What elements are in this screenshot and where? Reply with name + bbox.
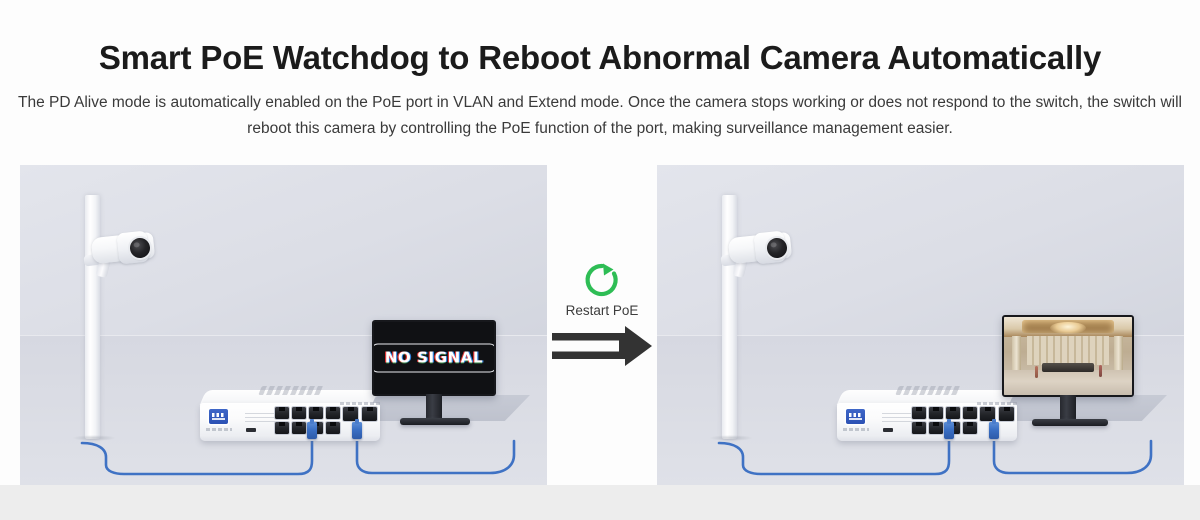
monitor-live-feed [1002,315,1142,430]
monitor-screen [1002,315,1134,397]
cable-plug-uplink1 [989,422,999,439]
poe-port-7 [963,422,977,434]
lobby-back-wall [1027,336,1109,366]
poe-port-8 [963,407,977,419]
monitor-neck [426,394,442,420]
chandelier-icon [1050,322,1086,334]
panel-after [657,165,1184,485]
poe-port-4 [929,407,943,419]
no-signal-text: NO SIGNAL [385,349,483,367]
poe-switch [837,390,1022,442]
switch-port-legend [882,410,912,422]
lobby-column-right [1114,336,1123,370]
port-row-top [912,407,977,419]
poe-port-2 [275,407,289,419]
poe-port-3 [292,422,306,434]
pole-shadow [72,435,116,441]
page-subtitle: The PD Alive mode is automatically enabl… [12,90,1188,142]
switch-model-text [206,428,232,431]
poe-port-4 [292,407,306,419]
lobby-column-left [1012,336,1021,370]
poe-port-1 [912,422,926,434]
cable-plug-uplink1 [352,422,362,439]
lobby-floor [1004,370,1132,395]
refresh-icon [582,260,622,300]
cctv-camera [78,227,170,289]
poe-port-8 [326,407,340,419]
switch-brand-emboss [895,386,961,395]
bottom-strip [0,485,1200,520]
pole-shadow [709,435,753,441]
monitor-base [1032,419,1108,426]
reception-desk [1042,363,1093,372]
panel-before: NO SIGNAL [20,165,547,485]
poe-port-7 [326,422,340,434]
lobby-person-2 [1099,365,1102,377]
lobby-person-1 [1035,366,1038,378]
switch-model-text [843,428,869,431]
poe-port-2 [912,407,926,419]
poe-switch [200,390,385,442]
poe-port-6 [946,407,960,419]
monitor-neck [1060,395,1076,421]
cable-plug-port1 [944,422,954,439]
switch-status-led [246,428,256,432]
switch-logo-badge [209,409,228,424]
transition-indicator: Restart PoE [547,165,657,485]
switch-port-legend [245,410,275,422]
monitor-screen: NO SIGNAL [372,320,496,396]
poe-port-1 [275,422,289,434]
monitor-base [400,418,470,425]
no-signal-box: NO SIGNAL [372,344,496,373]
monitor-no-signal: NO SIGNAL [372,320,502,430]
cable-plug-port1 [307,422,317,439]
switch-brand-emboss [258,386,324,395]
poe-port-3 [929,422,943,434]
port-row-top [275,407,340,419]
switch-logo-badge [846,409,865,424]
restart-poe-label: Restart PoE [547,303,657,318]
cctv-camera [715,227,807,289]
page-root: Smart PoE Watchdog to Reboot Abnormal Ca… [0,0,1200,520]
poe-port-6 [309,407,323,419]
live-video-feed [1004,317,1132,395]
page-title: Smart PoE Watchdog to Reboot Abnormal Ca… [0,38,1200,78]
right-arrow-icon [549,325,655,367]
switch-status-led [883,428,893,432]
